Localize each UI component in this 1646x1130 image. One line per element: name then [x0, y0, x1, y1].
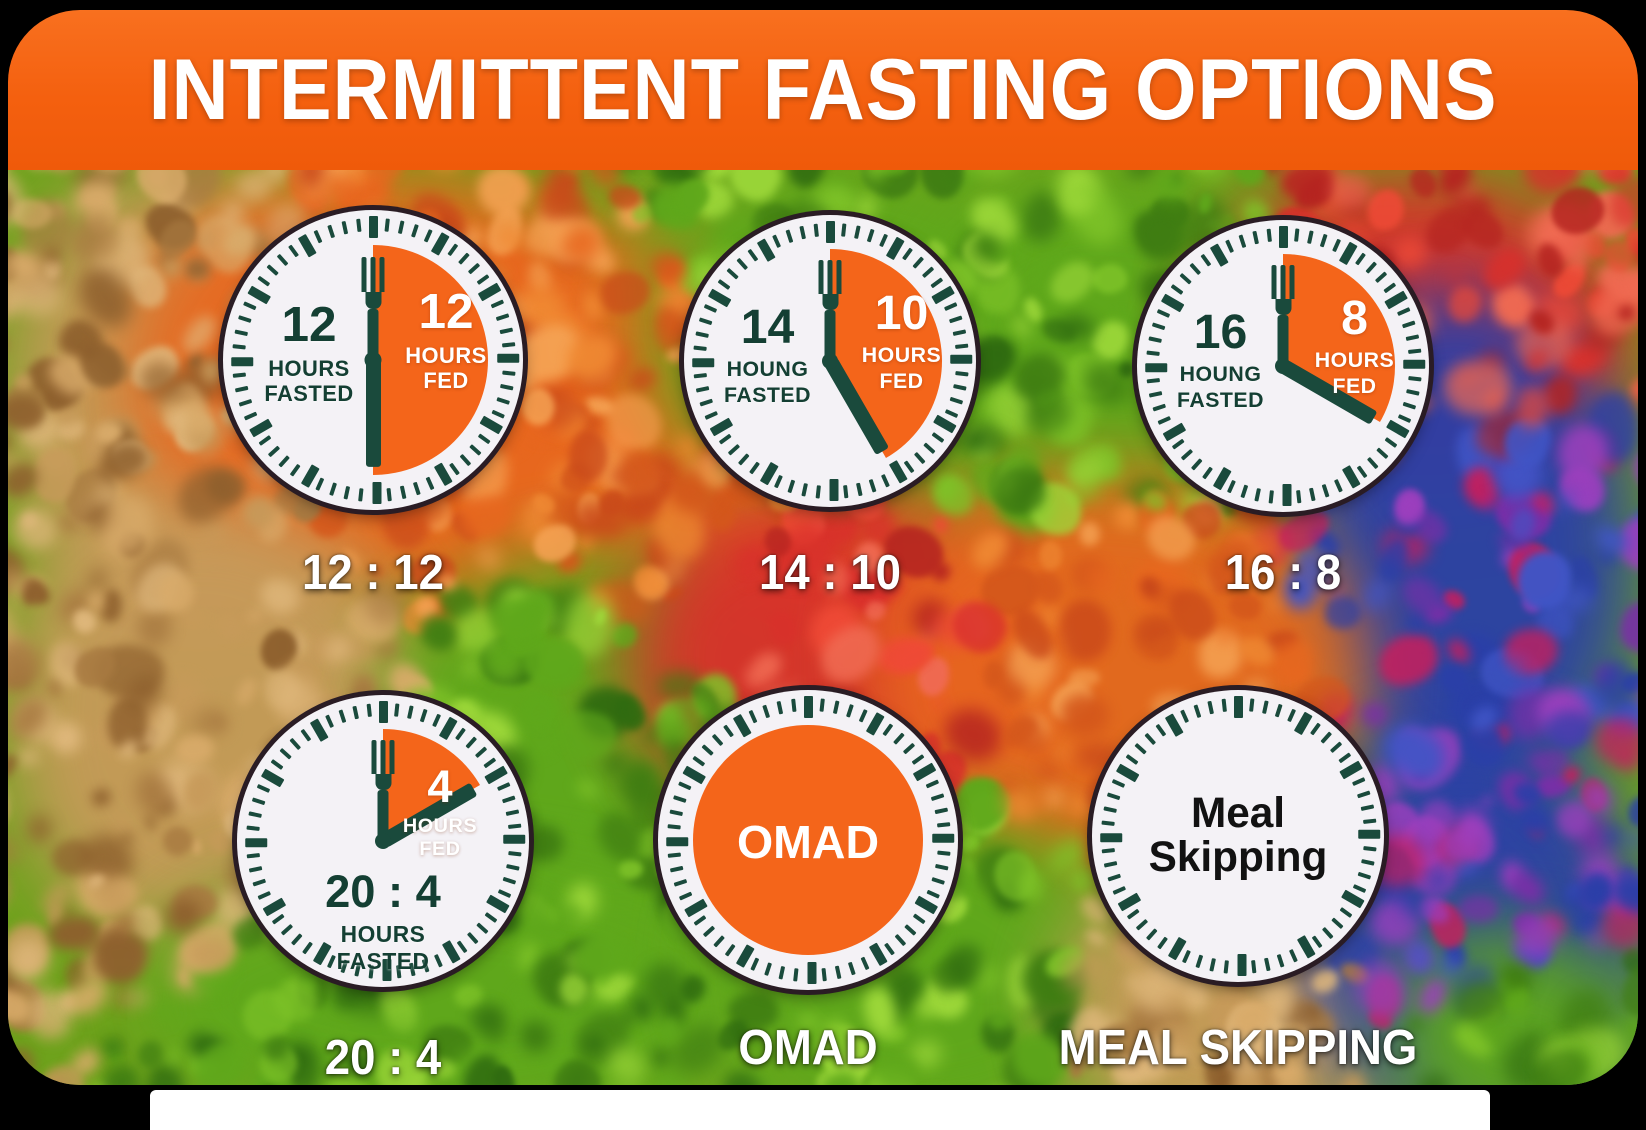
- clock-16-8[interactable]: 16HOUNGFASTED8HOURSFED: [1137, 220, 1429, 512]
- clock-hub: [365, 352, 382, 369]
- fed-label: 8HOURSFED: [1305, 294, 1404, 397]
- clock-hub: [375, 833, 391, 849]
- clock-grid: 12HOURSFASTED12HOURSFED 12 : 12 14HOUNGF…: [8, 170, 1638, 1085]
- clock-omad[interactable]: OMAD: [658, 690, 958, 990]
- fed-word: FED: [852, 371, 951, 392]
- caption-meal-skipping: MEAL SKIPPING: [1043, 1020, 1434, 1076]
- clock-dial: MealSkipping: [1126, 724, 1350, 948]
- fasted-unit: HOURS: [237, 923, 529, 946]
- fed-label: 12HOURSFED: [395, 287, 497, 392]
- option-20-4: 4HOURSFED20 : 4HOURSFASTED 20 : 4: [173, 695, 593, 987]
- clock-14-10[interactable]: 14HOUNGFASTED10HOURSFED: [684, 215, 976, 507]
- fasted-label: 16HOUNGFASTED: [1171, 308, 1270, 411]
- caption-20-4: 20 : 4: [188, 1030, 579, 1085]
- page-title: INTERMITTENT FASTING OPTIONS: [149, 41, 1498, 140]
- header-band: INTERMITTENT FASTING OPTIONS: [8, 10, 1638, 170]
- fasted-label: 12HOURSFASTED: [258, 300, 360, 405]
- disc-label-line2: Skipping: [1149, 833, 1328, 880]
- fed-unit: HOURS: [852, 345, 951, 366]
- fed-value: 4: [396, 764, 484, 809]
- clock-dial: OMAD: [693, 725, 923, 955]
- infographic-card: INTERMITTENT FASTING OPTIONS 12HOURSFAST…: [8, 10, 1638, 1085]
- bottom-white-panel: [150, 1090, 1490, 1130]
- clock-20-4[interactable]: 4HOURSFED20 : 4HOURSFASTED: [237, 695, 529, 987]
- minute-hand: [366, 360, 381, 467]
- disc-label-line1: Meal: [1191, 789, 1285, 836]
- fed-label: 4HOURSFED: [396, 764, 484, 860]
- fed-unit: HOURS: [395, 345, 497, 367]
- fasted-unit: HOUNG: [1171, 364, 1270, 385]
- caption-16-8: 16 : 8: [1088, 545, 1479, 601]
- fasted-value: 16: [1171, 308, 1270, 356]
- fasted-word: FASTED: [1171, 390, 1270, 411]
- omad-disc-label: OMAD: [693, 818, 923, 866]
- fork-icon: [372, 740, 395, 841]
- fasted-word: FASTED: [718, 385, 817, 406]
- fasted-center-label: 20 : 4HOURSFASTED: [237, 869, 529, 973]
- fasted-value: 12: [258, 300, 360, 350]
- option-16-8: 16HOUNGFASTED8HOURSFED 16 : 8: [1073, 220, 1493, 512]
- fed-word: FED: [396, 840, 484, 860]
- fed-unit: HOURS: [396, 817, 484, 837]
- fasted-word: FASTED: [237, 950, 529, 973]
- option-meal-skipping: MealSkipping MEAL SKIPPING: [1028, 690, 1448, 982]
- fasted-label: 14HOUNGFASTED: [718, 303, 817, 406]
- fed-word: FED: [395, 370, 497, 392]
- clock-12-12[interactable]: 12HOURSFASTED12HOURSFED: [223, 210, 523, 510]
- fed-unit: HOURS: [1305, 350, 1404, 371]
- option-14-10: 14HOUNGFASTED10HOURSFED 14 : 10: [620, 215, 1040, 507]
- caption-14-10: 14 : 10: [635, 545, 1026, 601]
- fasted-unit: HOUNG: [718, 359, 817, 380]
- ratio-value: 20 : 4: [237, 869, 529, 914]
- clock-hub: [1275, 358, 1291, 374]
- option-12-12: 12HOURSFASTED12HOURSFED 12 : 12: [163, 210, 583, 510]
- fed-value: 10: [852, 289, 951, 337]
- fasted-value: 14: [718, 303, 817, 351]
- caption-omad: OMAD: [613, 1020, 1004, 1076]
- fasted-unit: HOURS: [258, 358, 360, 380]
- option-omad: OMAD OMAD: [598, 690, 1018, 990]
- meal-skipping-disc-label: MealSkipping: [1126, 791, 1350, 879]
- clock-hub: [822, 353, 838, 369]
- fed-label: 10HOURSFED: [852, 289, 951, 392]
- fasted-word: FASTED: [258, 383, 360, 405]
- fork-icon: [362, 257, 385, 362]
- fork-icon: [819, 260, 842, 361]
- caption-12-12: 12 : 12: [178, 545, 569, 601]
- clock-meal-skipping[interactable]: MealSkipping: [1092, 690, 1384, 982]
- fed-value: 12: [395, 287, 497, 337]
- fed-word: FED: [1305, 376, 1404, 397]
- fed-value: 8: [1305, 294, 1404, 342]
- fork-icon: [1272, 265, 1295, 366]
